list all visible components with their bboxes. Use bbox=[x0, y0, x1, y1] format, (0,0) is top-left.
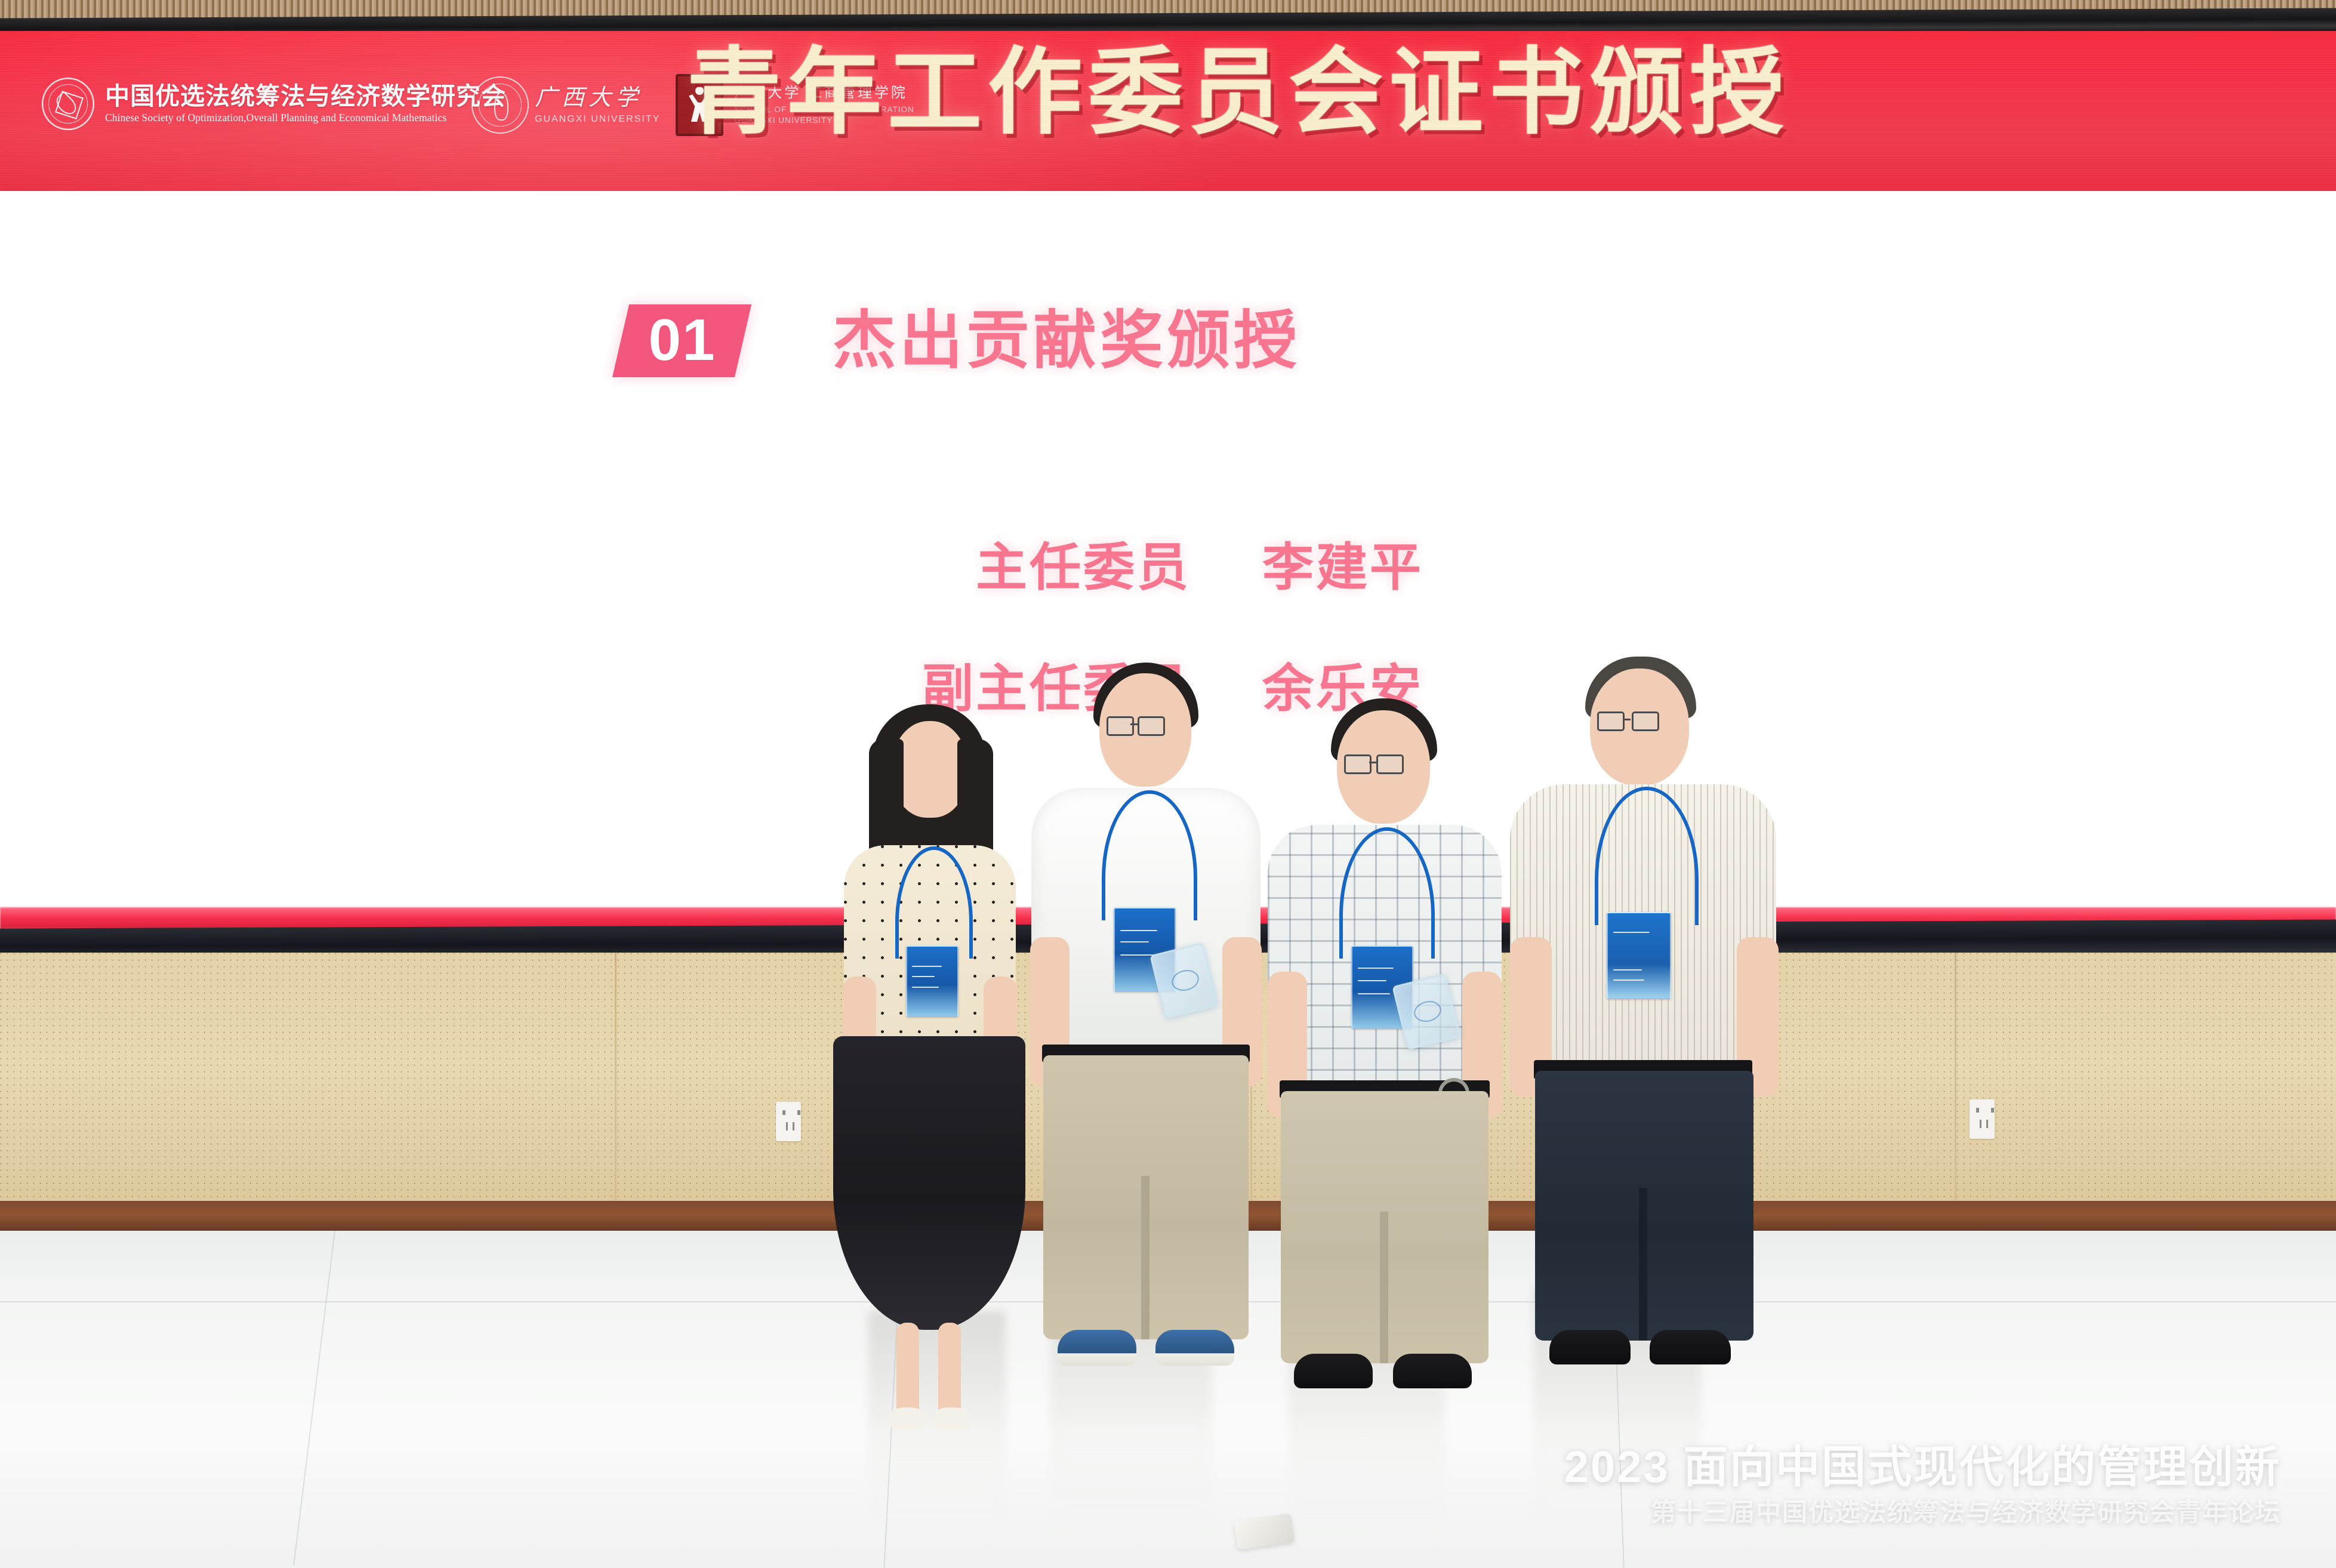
section-title: 杰出贡献奖颁授 bbox=[833, 309, 1300, 372]
csoopem-seal-icon bbox=[42, 78, 94, 130]
leg-left bbox=[896, 1323, 919, 1418]
section-heading: 01 杰出贡献奖颁授 bbox=[621, 304, 1300, 377]
person-man-white-shirt bbox=[1027, 663, 1265, 1403]
staff-badge bbox=[1607, 912, 1671, 999]
university-name-cn: 广西大学 bbox=[535, 87, 660, 109]
business-school-stamp-icon bbox=[676, 74, 723, 136]
trouser-gap bbox=[1639, 1188, 1647, 1341]
glasses-icon bbox=[1344, 754, 1424, 772]
shoe-left bbox=[1549, 1330, 1631, 1364]
attendee-badge bbox=[906, 945, 959, 1017]
list-item: 主任委员 李建平 bbox=[809, 525, 1423, 600]
trouser-gap bbox=[1380, 1212, 1388, 1363]
appointment-role: 主任委员 bbox=[809, 525, 1191, 600]
society-name-cn: 中国优选法统筹法与经济数学研究会 bbox=[105, 84, 506, 109]
person-man-striped-shirt bbox=[1510, 657, 1779, 1409]
shoe-right bbox=[1155, 1330, 1234, 1366]
shoe-left bbox=[1294, 1354, 1373, 1388]
society-name-en: Chinese Society of Optimization,Overall … bbox=[105, 113, 506, 124]
school-name-cn: 广西大学 工商管理学院 bbox=[734, 86, 914, 100]
person-woman bbox=[830, 704, 1027, 1409]
school-name-en-line1: SCHOOL OF BUSINESS ADMINISTRATION bbox=[734, 106, 914, 114]
section-number-text: 01 bbox=[648, 310, 716, 369]
person-man-checked-shirt bbox=[1265, 698, 1504, 1409]
section-number-badge: 01 bbox=[612, 304, 751, 377]
wall-power-outlet bbox=[776, 1102, 801, 1141]
school-name-en-line2: GUANGXI UNIVERSITY bbox=[734, 116, 914, 125]
university-name-en: GUANGXI UNIVERSITY bbox=[535, 115, 660, 124]
glasses-icon bbox=[1107, 716, 1185, 734]
appointment-name: 李建平 bbox=[1262, 525, 1423, 600]
skirt bbox=[833, 1036, 1025, 1330]
glasses-icon bbox=[1597, 711, 1683, 729]
shoe-right bbox=[933, 1407, 970, 1430]
leg-right bbox=[938, 1323, 961, 1418]
shoe-right bbox=[1650, 1330, 1731, 1364]
university-logo-block: 广西大学 GUANGXI UNIVERSITY 广西大学 工商管理学院 SCHO… bbox=[471, 74, 914, 136]
guangxi-university-seal-icon bbox=[471, 76, 529, 134]
conference-stage-photo: 中国优选法统筹法与经济数学研究会 Chinese Society of Opti… bbox=[0, 0, 2336, 1568]
society-logo-block: 中国优选法统筹法与经济数学研究会 Chinese Society of Opti… bbox=[42, 78, 506, 130]
trouser-gap bbox=[1141, 1176, 1149, 1339]
event-banner: 中国优选法统筹法与经济数学研究会 Chinese Society of Opti… bbox=[0, 31, 2336, 191]
shoe-left bbox=[889, 1407, 926, 1430]
wall-power-outlet bbox=[1970, 1099, 1995, 1139]
object-on-floor bbox=[1234, 1514, 1295, 1550]
shoe-right bbox=[1393, 1354, 1472, 1388]
shoe-left bbox=[1058, 1330, 1136, 1366]
